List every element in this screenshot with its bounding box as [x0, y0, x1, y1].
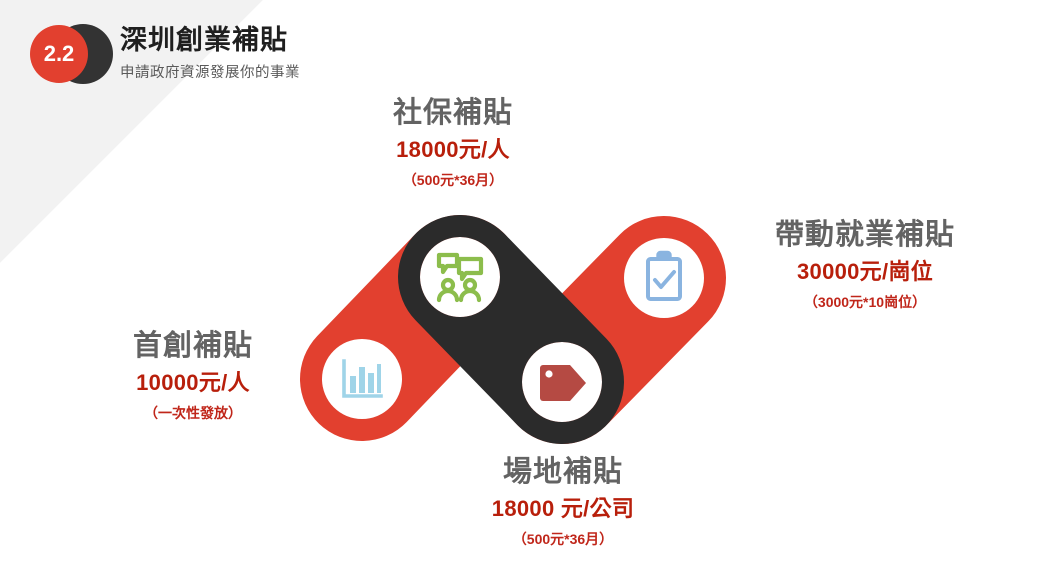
slide-title: 深圳創業補貼	[120, 26, 300, 56]
callout-employment-subsidy: 帶動就業補貼 30000元/崗位 （3000元*10崗位）	[735, 219, 995, 311]
callout-social-insurance: 社保補貼 18000元/人 （500元*36月）	[318, 97, 588, 189]
section-number-badge: 2.2	[27, 24, 123, 86]
callout-note: （一次性發放）	[58, 405, 328, 422]
slide-subtitle: 申請政府資源發展你的事業	[120, 61, 300, 82]
callout-title: 社保補貼	[318, 97, 588, 130]
badge-number-label: 2.2	[44, 43, 75, 65]
callout-amount: 30000元/崗位	[735, 259, 995, 285]
callout-note: （3000元*10崗位）	[735, 294, 995, 311]
callout-amount: 10000元/人	[58, 370, 328, 396]
badge-red-circle: 2.2	[30, 25, 88, 83]
callout-startup-subsidy: 首創補貼 10000元/人 （一次性發放）	[58, 330, 328, 422]
chain-diagram	[280, 205, 730, 455]
callout-amount: 18000 元/公司	[418, 496, 708, 522]
callout-title: 首創補貼	[58, 330, 328, 363]
callout-note: （500元*36月）	[418, 531, 708, 548]
slide-header: 2.2 深圳創業補貼 申請政府資源發展你的事業	[0, 0, 600, 110]
header-text-group: 深圳創業補貼 申請政府資源發展你的事業	[120, 26, 300, 82]
callout-title: 場地補貼	[418, 456, 708, 489]
callout-note: （500元*36月）	[318, 172, 588, 189]
slide-canvas: 2.2 深圳創業補貼 申請政府資源發展你的事業	[0, 0, 1045, 587]
callout-venue-subsidy: 場地補貼 18000 元/公司 （500元*36月）	[418, 456, 708, 548]
callout-amount: 18000元/人	[318, 137, 588, 163]
callout-title: 帶動就業補貼	[735, 219, 995, 252]
